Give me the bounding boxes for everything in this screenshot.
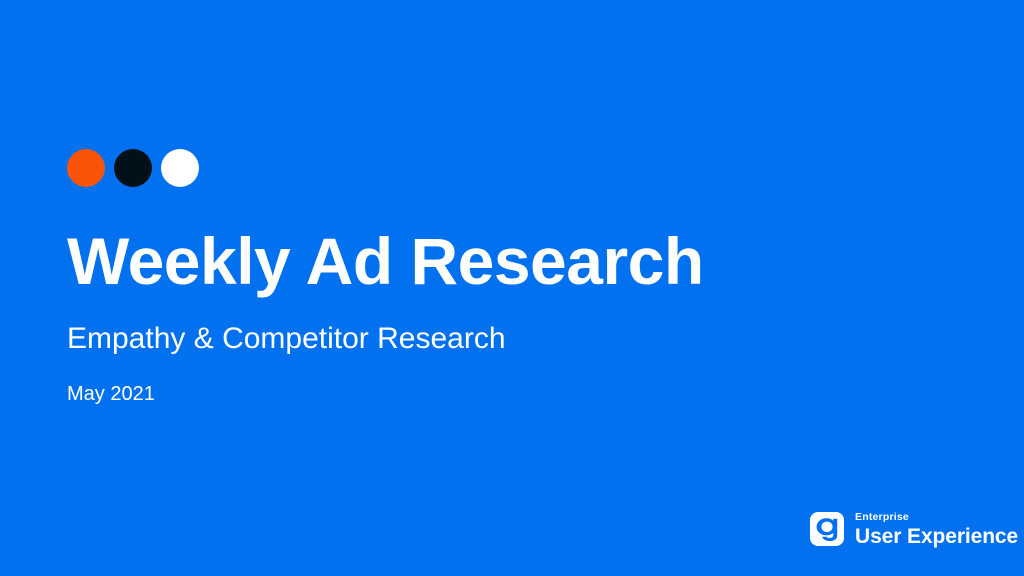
logo-name: User Experience [855,526,1018,547]
logo-eyebrow: Enterprise [855,512,1018,523]
slide-date: May 2021 [67,381,155,407]
decorative-dot-row [67,149,199,187]
logo-text-block: Enterprise User Experience [855,512,1018,547]
dark-dot-icon [114,149,152,187]
title-slide: Weekly Ad Research Empathy & Competitor … [0,0,1024,576]
slide-title: Weekly Ad Research [67,222,704,300]
white-dot-icon [161,149,199,187]
brand-logo: Enterprise User Experience [810,512,1018,547]
logo-g-mark-icon [810,512,844,546]
orange-dot-icon [67,149,105,187]
slide-subtitle: Empathy & Competitor Research [67,320,506,358]
